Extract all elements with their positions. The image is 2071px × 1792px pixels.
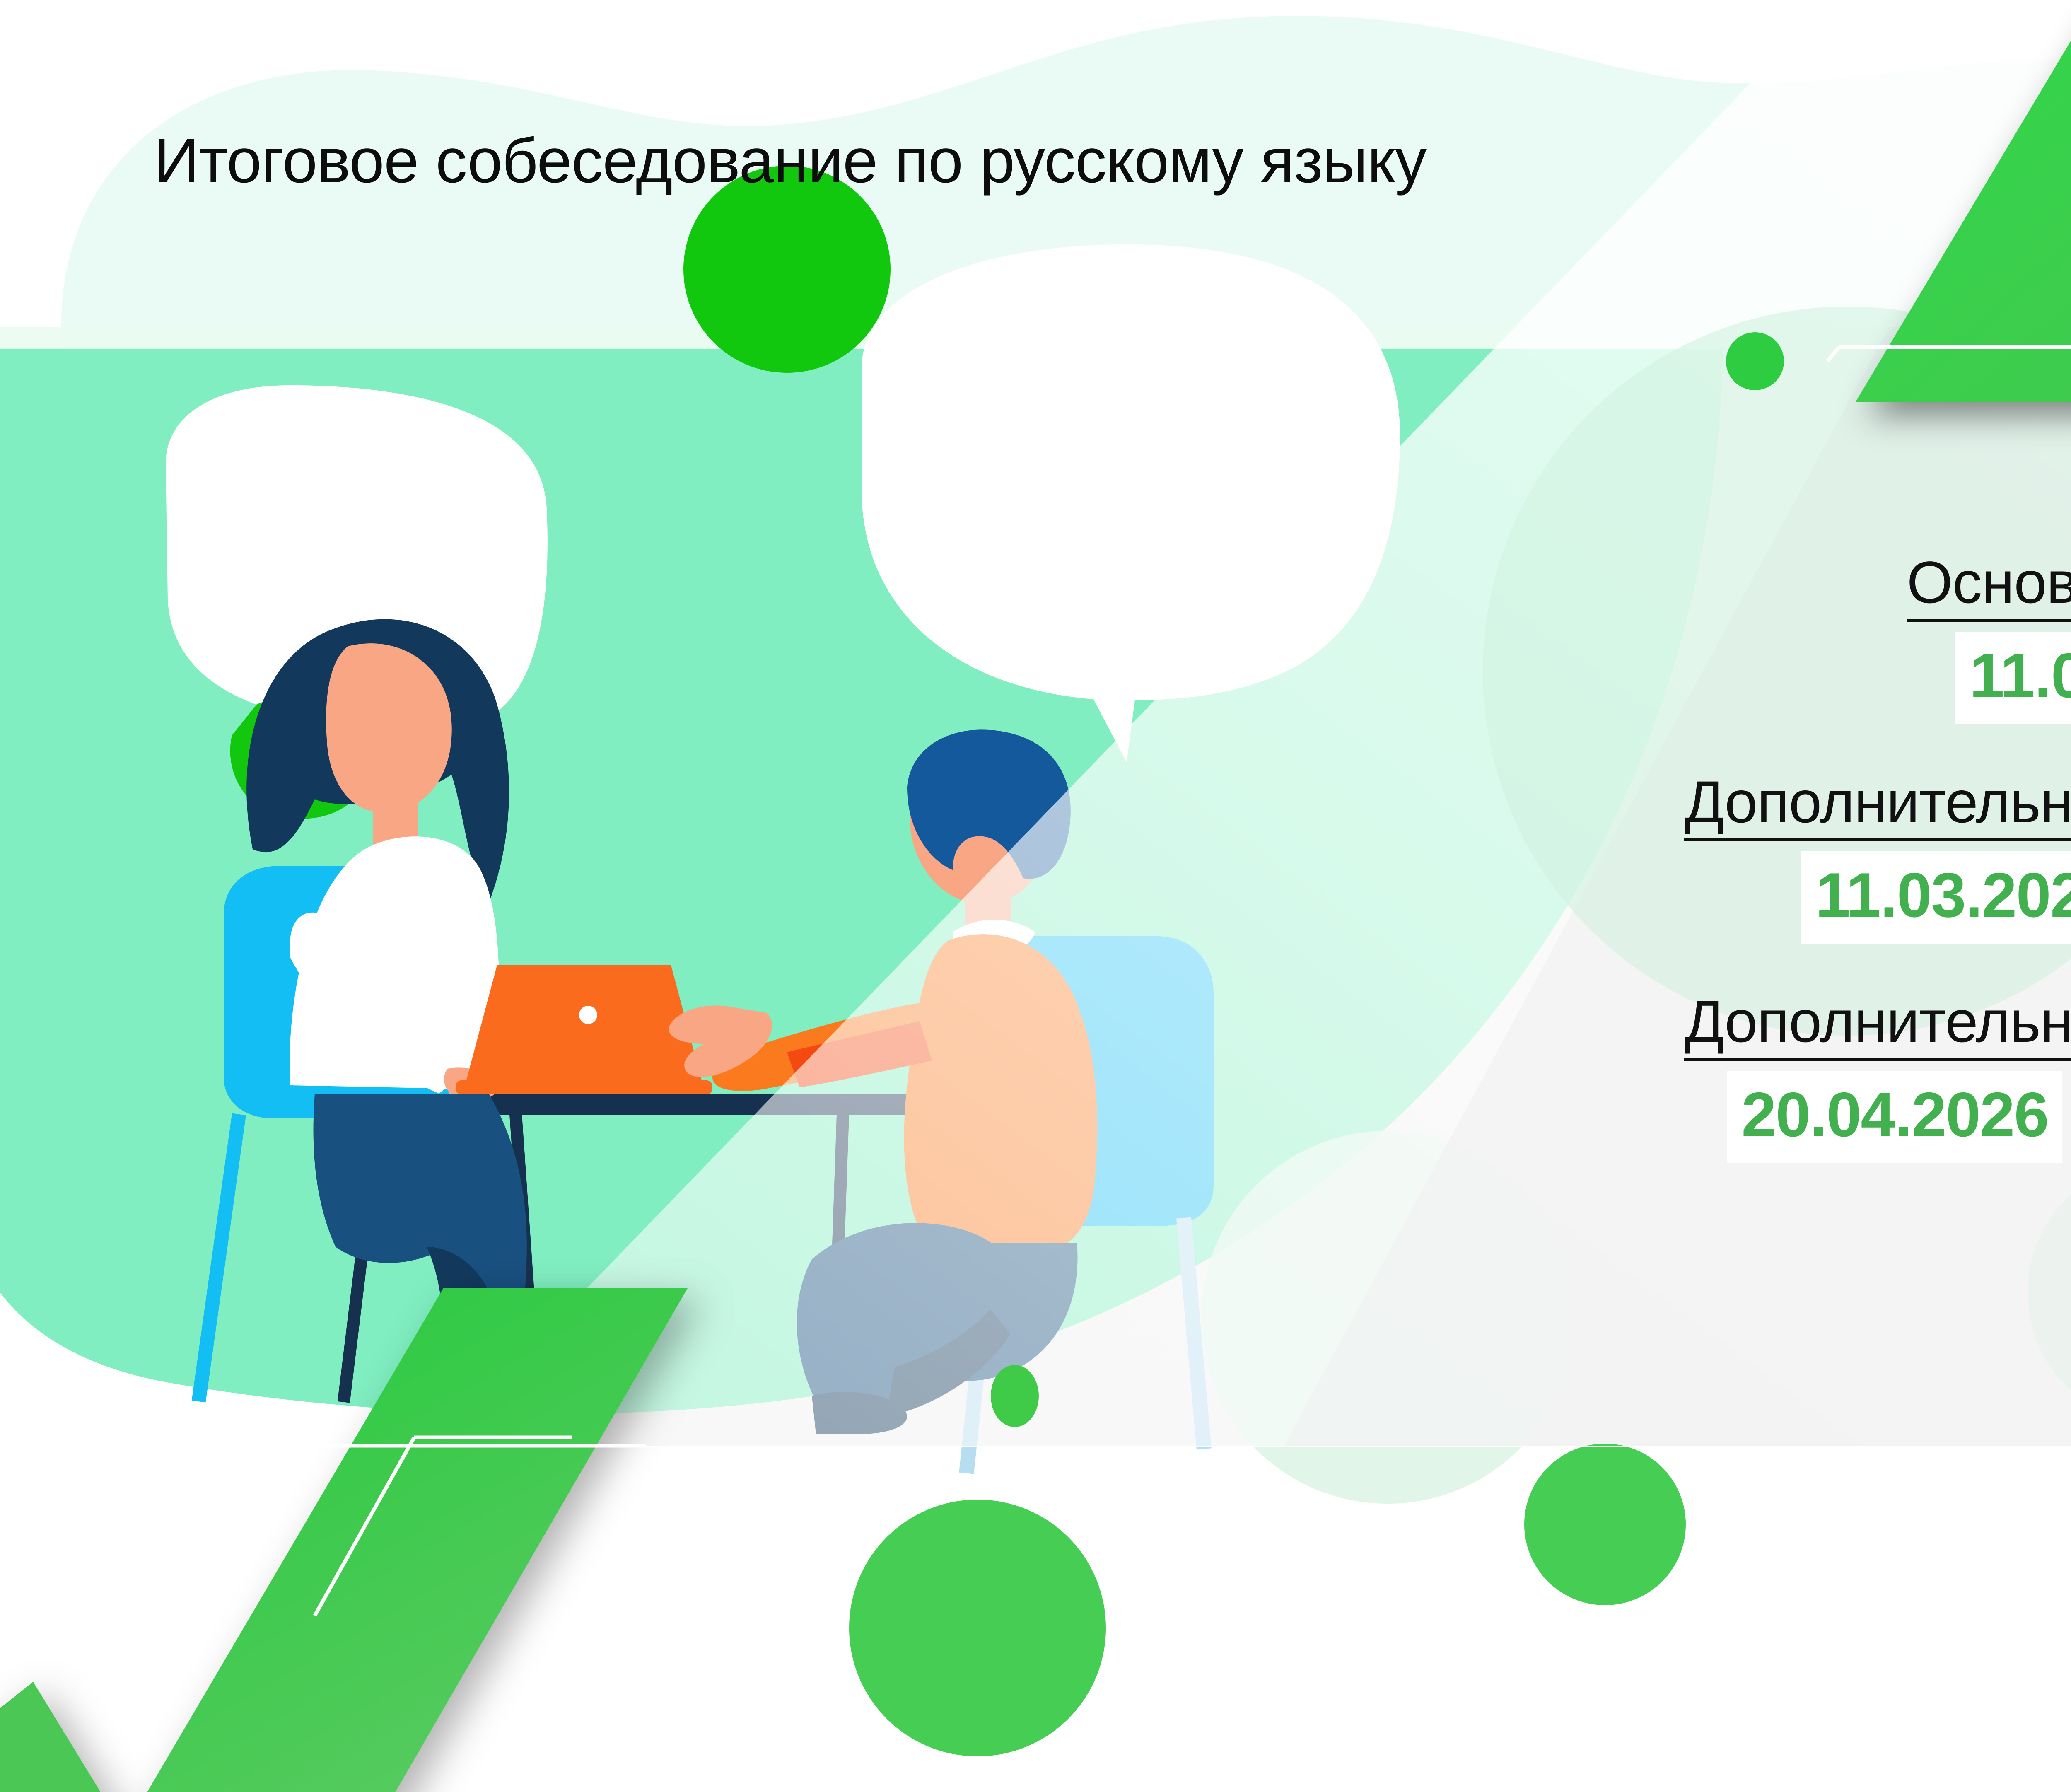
date-label-extra-2: Дополнительный срок: [1684, 990, 2071, 1061]
green-dot-top: [1726, 332, 1784, 390]
date-label-row: Дополнительный срок 1: [1068, 770, 2071, 841]
laptop: [464, 965, 704, 1089]
date-block-extra-2: Дополнительный срок 2 20.04.2026: [1068, 990, 2071, 1163]
date-value-row: 11.03.2026: [1068, 851, 2071, 943]
date-label-extra-1: Дополнительный срок: [1684, 770, 2071, 841]
date-value-extra-1: 11.03.2026: [1801, 851, 2071, 943]
page-title: Итоговое собеседование по русскому языку: [154, 124, 1426, 197]
date-block-extra-1: Дополнительный срок 1 11.03.2026: [1068, 770, 2071, 944]
date-value-extra-2: 20.04.2026: [1727, 1071, 2062, 1163]
exam-dates-list: Основной срок 11.02.2026 Дополнительный …: [1068, 551, 2071, 1163]
green-circle-bottom-left: [849, 1500, 1106, 1756]
date-value-row: 20.04.2026: [1068, 1071, 2071, 1163]
date-label-main: Основной срок: [1907, 551, 2071, 622]
date-value-row: 11.02.2026: [1068, 632, 2071, 724]
date-value-main: 11.02.2026: [1955, 632, 2071, 724]
date-label-row: Дополнительный срок 2: [1068, 990, 2071, 1061]
date-label-row: Основной срок: [1068, 551, 2071, 622]
date-block-main: Основной срок 11.02.2026: [1068, 551, 2071, 724]
green-circle-bottom-right: [1524, 1444, 1686, 1605]
poster-canvas: Итоговое собеседование по русскому языку…: [0, 0, 2071, 1792]
green-dot-mid: [991, 1365, 1039, 1427]
